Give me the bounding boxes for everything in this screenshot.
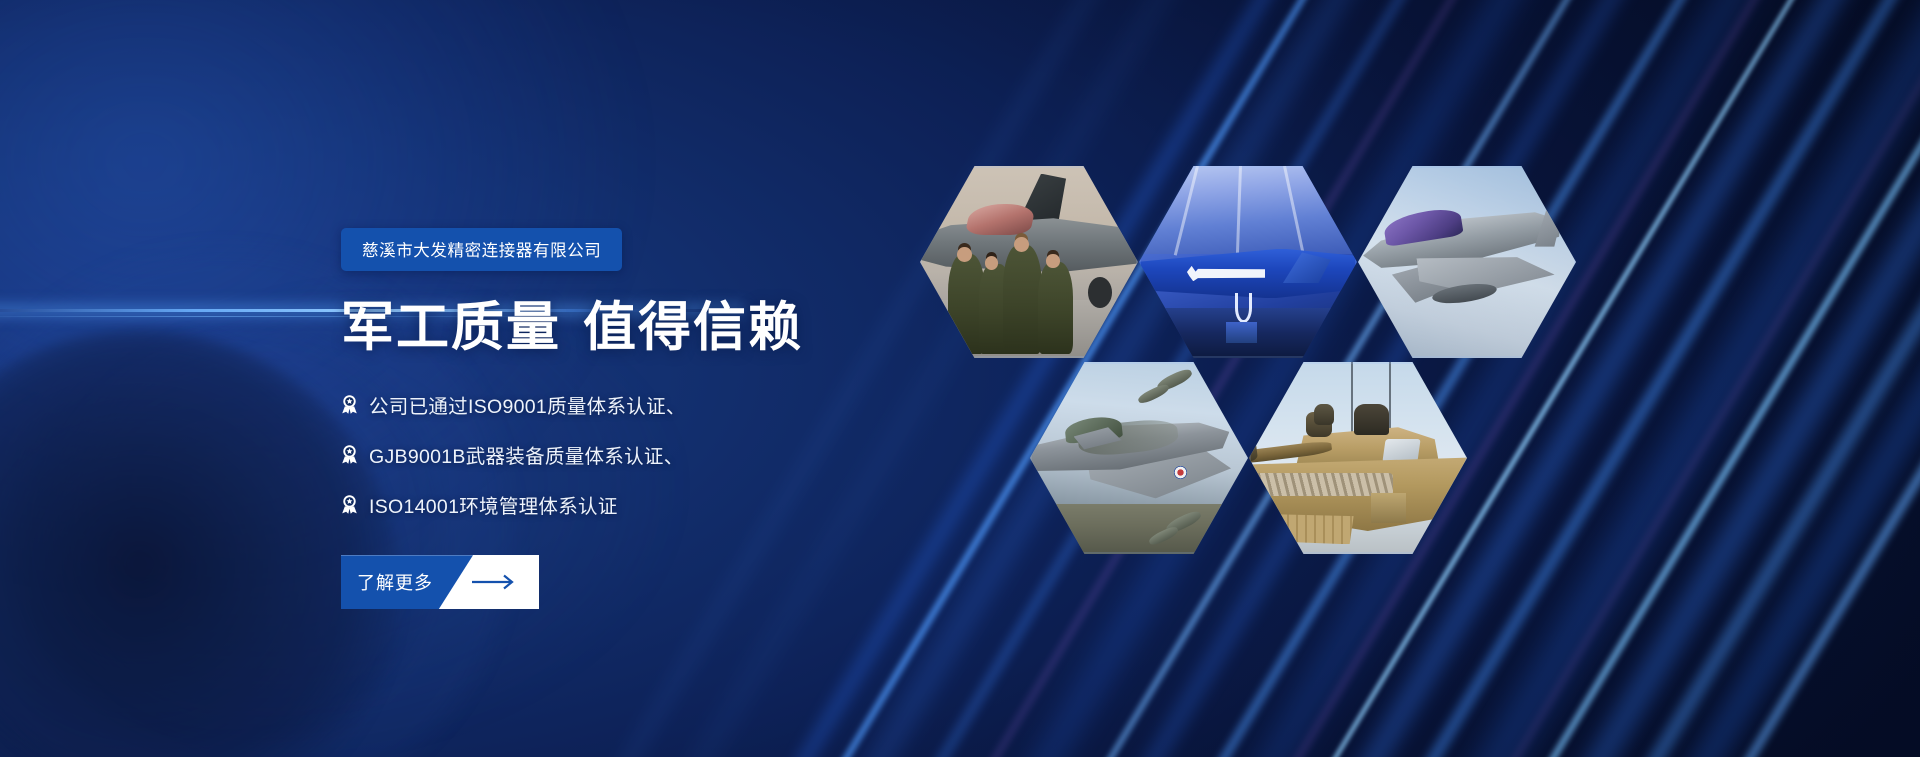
list-item-label: GJB9001B武器装备质量体系认证、 (369, 440, 684, 469)
hex-image-boeing-wing[interactable] (1139, 166, 1357, 358)
hex-image-gripen-jet[interactable] (1358, 166, 1576, 358)
medal-icon (341, 445, 358, 464)
medal-icon (341, 395, 358, 414)
company-name-badge: 慈溪市大发精密连接器有限公司 (341, 228, 622, 271)
list-item-label: 公司已通过ISO9001质量体系认证、 (369, 390, 686, 419)
hex-image-rafale-jet[interactable] (1030, 362, 1248, 554)
banner-content: 慈溪市大发精密连接器有限公司 军工质量值得信赖 公司已通过ISO9001质量体系… (341, 228, 981, 614)
learn-more-button[interactable]: 了解更多 (341, 555, 539, 609)
learn-more-label: 了解更多 (357, 555, 433, 609)
headline-part-2: 值得信赖 (583, 298, 803, 357)
hex-image-battle-tank[interactable] (1249, 362, 1467, 554)
hexagon-gallery (920, 138, 1600, 638)
hero-banner: 慈溪市大发精密连接器有限公司 军工质量值得信赖 公司已通过ISO9001质量体系… (0, 0, 1920, 757)
list-item: GJB9001B武器装备质量体系认证、 (341, 440, 981, 469)
list-item-label: ISO14001环境管理体系认证 (369, 490, 618, 519)
medal-icon (341, 495, 358, 514)
list-item: 公司已通过ISO9001质量体系认证、 (341, 390, 981, 419)
headline-part-1: 军工质量 (341, 298, 561, 357)
list-item: ISO14001环境管理体系认证 (341, 490, 981, 519)
arrow-right-icon (471, 555, 517, 609)
certification-list: 公司已通过ISO9001质量体系认证、 GJB9001B武器装备质量体系认证、 (341, 390, 981, 519)
page-title: 军工质量值得信赖 (341, 299, 981, 357)
